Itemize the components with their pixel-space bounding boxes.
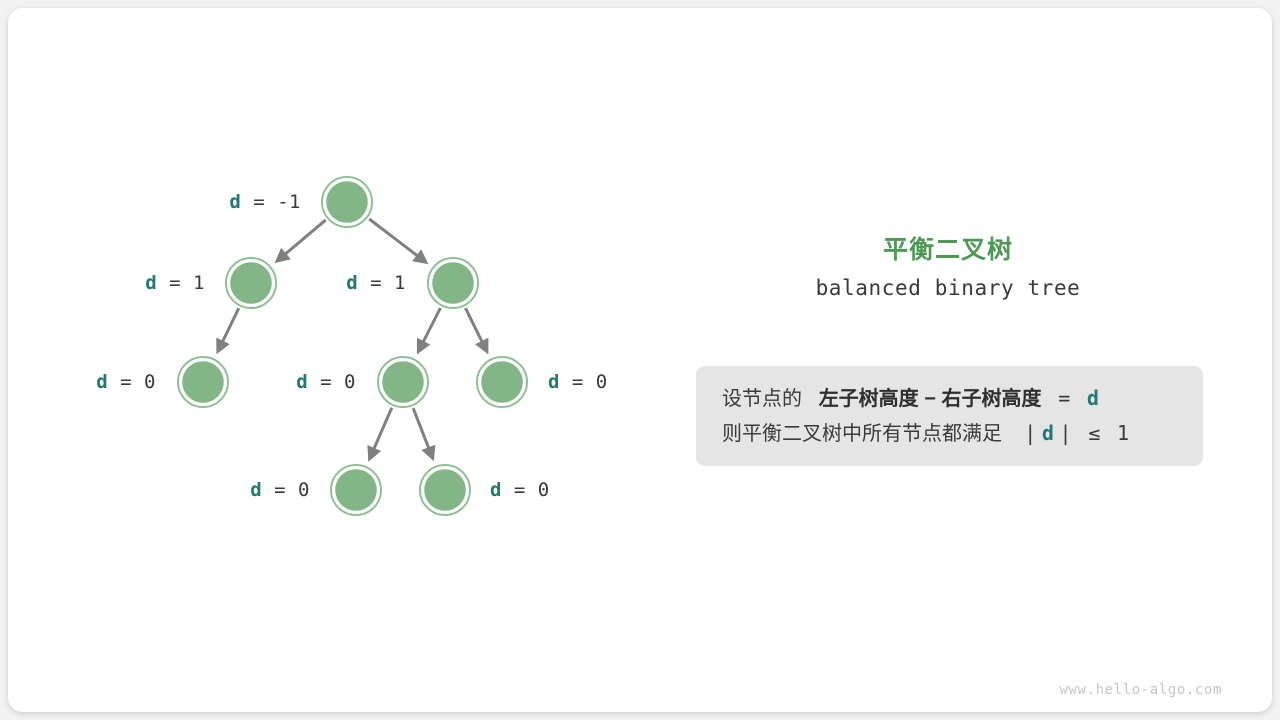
definition-line-1: 设节点的 左子树高度 − 右子树高度 = d: [722, 381, 1177, 416]
node-balance-label: d = 0: [250, 479, 310, 501]
balance-factor-symbol: d: [490, 479, 502, 501]
binary-tree-graphic: [0, 0, 680, 720]
balance-factor-symbol: d: [229, 191, 241, 213]
balance-factor-symbol: d: [250, 479, 262, 501]
balance-factor-symbol: d: [96, 371, 108, 393]
balance-factor-symbol: d: [548, 371, 560, 393]
balance-factor-symbol: d: [346, 272, 358, 294]
minus-operator: −: [924, 388, 936, 410]
balance-factor-value: = -1: [241, 191, 301, 213]
definition-line-2: 则平衡二叉树中所有节点都满足 | d | ≤ 1: [722, 416, 1177, 451]
tree-node[interactable]: [378, 357, 428, 407]
balance-factor-symbol: d: [296, 371, 308, 393]
balance-factor-value: = 0: [108, 371, 156, 393]
node-fill: [326, 181, 368, 223]
tree-edges: [218, 219, 486, 458]
node-balance-label: d = 0: [296, 371, 356, 393]
balance-factor-symbol: d: [145, 272, 157, 294]
balance-factor-value: = 0: [502, 479, 550, 501]
node-balance-label: d = 1: [346, 272, 406, 294]
tree-node[interactable]: [322, 177, 372, 227]
node-balance-label: d = 1: [145, 272, 205, 294]
node-balance-label: d = -1: [229, 191, 301, 213]
balance-factor-var-1: d: [1087, 386, 1099, 410]
site-watermark: www.hello-algo.com: [1059, 682, 1222, 698]
tree-edge: [419, 308, 441, 351]
tree-nodes: [178, 177, 527, 515]
tree-node[interactable]: [420, 465, 470, 515]
node-fill: [424, 469, 466, 511]
less-equal-operator: ≤: [1088, 421, 1100, 445]
node-fill: [182, 361, 224, 403]
balance-factor-value: = 0: [262, 479, 310, 501]
definition-box: 设节点的 左子树高度 − 右子树高度 = d 则平衡二叉树中所有节点都满足 | …: [696, 366, 1203, 466]
tree-edge: [465, 308, 486, 351]
tree-edge: [370, 408, 392, 458]
node-fill: [481, 361, 523, 403]
diagram-canvas: d = -1d = 1d = 1d = 0d = 0d = 0d = 0d = …: [0, 0, 1280, 720]
tree-edge: [218, 308, 239, 350]
tree-node[interactable]: [178, 357, 228, 407]
definition-lead-2: 则平衡二叉树中所有节点都满足: [722, 423, 1002, 445]
balance-factor-value: = 0: [308, 371, 356, 393]
balance-factor-value: = 1: [358, 272, 406, 294]
node-balance-label: d = 0: [548, 371, 608, 393]
left-subtree-height-term: 左子树高度: [819, 388, 919, 410]
node-fill: [432, 262, 474, 304]
node-fill: [230, 262, 272, 304]
balance-factor-var-2: d: [1042, 421, 1054, 445]
tree-node[interactable]: [226, 258, 276, 308]
node-balance-label: d = 0: [96, 371, 156, 393]
balance-factor-value: = 0: [560, 371, 608, 393]
bound-value: 1: [1117, 421, 1129, 445]
tree-node[interactable]: [477, 357, 527, 407]
panel-title: 平衡二叉树: [694, 230, 1202, 266]
tree-edge: [369, 219, 425, 262]
tree-node[interactable]: [331, 465, 381, 515]
panel-subtitle: balanced binary tree: [694, 276, 1202, 300]
tree-edge: [413, 408, 432, 457]
abs-bar-left: |: [1024, 421, 1036, 445]
equals-operator: =: [1058, 386, 1070, 410]
tree-edge: [278, 220, 326, 260]
info-panel: 平衡二叉树 balanced binary tree 设节点的 左子树高度 − …: [694, 0, 1206, 720]
node-fill: [335, 469, 377, 511]
balance-factor-value: = 1: [157, 272, 205, 294]
node-balance-label: d = 0: [490, 479, 550, 501]
definition-lead-1: 设节点的: [722, 388, 802, 410]
tree-node[interactable]: [428, 258, 478, 308]
abs-bar-right: |: [1059, 421, 1071, 445]
node-fill: [382, 361, 424, 403]
right-subtree-height-term: 右子树高度: [942, 388, 1042, 410]
